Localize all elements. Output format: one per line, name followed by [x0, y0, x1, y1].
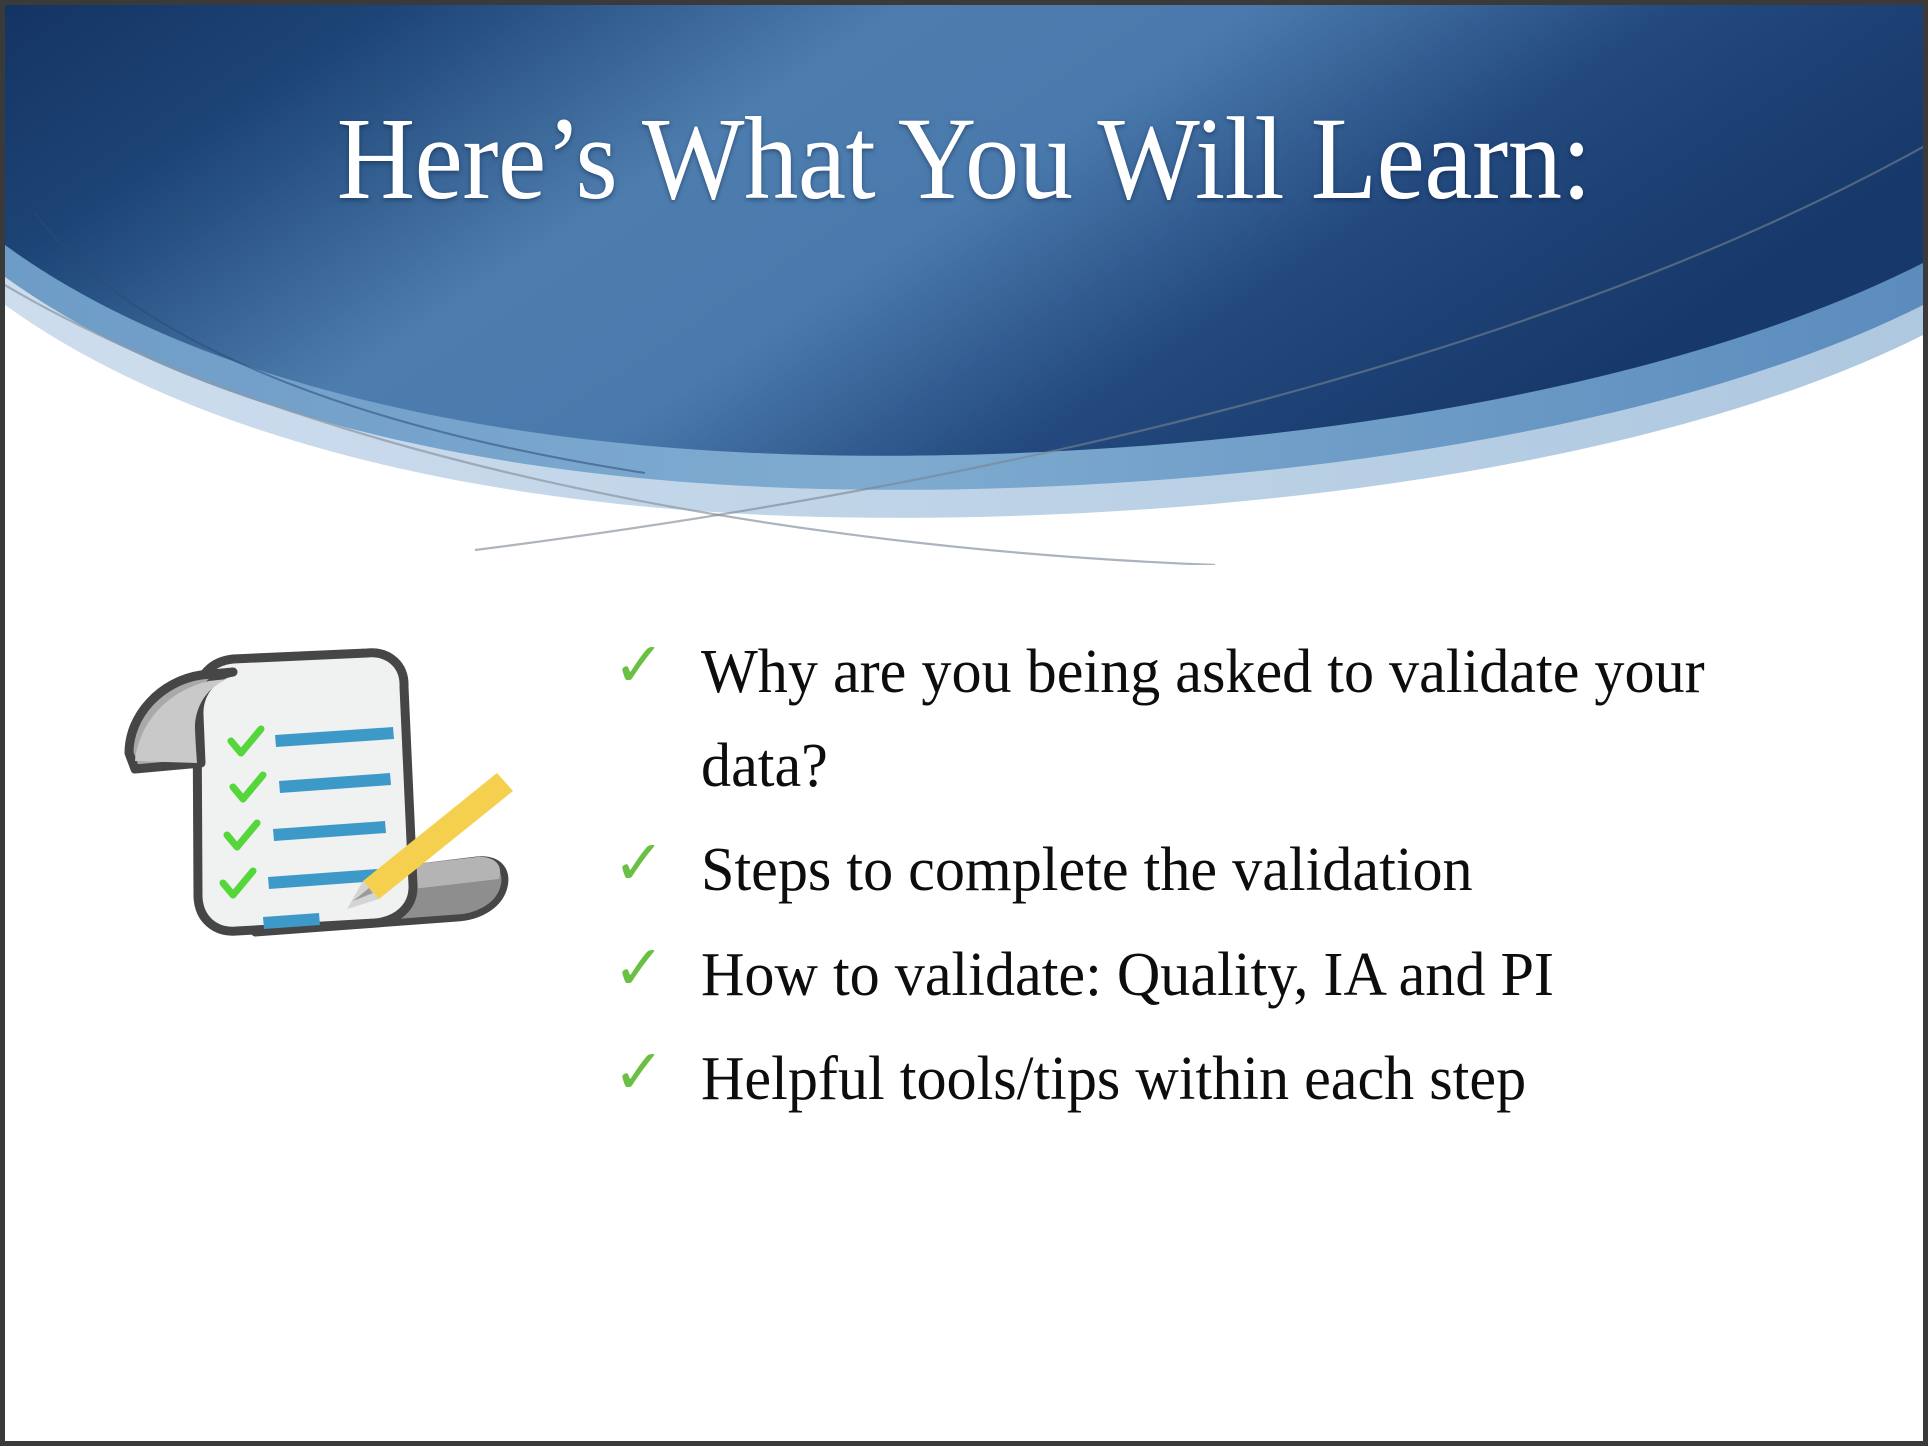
- list-item-label: Helpful tools/tips within each step: [701, 1032, 1830, 1126]
- check-mark-icon: ✓: [605, 625, 701, 706]
- check-mark-icon: ✓: [605, 823, 701, 904]
- learning-objectives-list: ✓ Why are you being asked to validate yo…: [605, 625, 1865, 1136]
- list-item-label: Why are you being asked to validate your…: [701, 625, 1797, 813]
- page-title: Here’s What You Will Learn:: [82, 100, 1847, 218]
- list-item-label: Steps to complete the validation: [701, 823, 1830, 917]
- check-mark-icon: ✓: [605, 1032, 701, 1113]
- slide-canvas: Here’s What You Will Learn:: [0, 0, 1928, 1446]
- list-item: ✓ Steps to complete the validation: [605, 823, 1865, 917]
- header-banner: [5, 5, 1923, 565]
- list-item-label: How to validate: Quality, IA and PI: [701, 928, 1830, 1022]
- checklist-scroll-icon: [105, 645, 525, 945]
- check-mark-icon: ✓: [605, 928, 701, 1009]
- list-item: ✓ Why are you being asked to validate yo…: [605, 625, 1865, 813]
- list-item: ✓ Helpful tools/tips within each step: [605, 1032, 1865, 1126]
- list-item: ✓ How to validate: Quality, IA and PI: [605, 928, 1865, 1022]
